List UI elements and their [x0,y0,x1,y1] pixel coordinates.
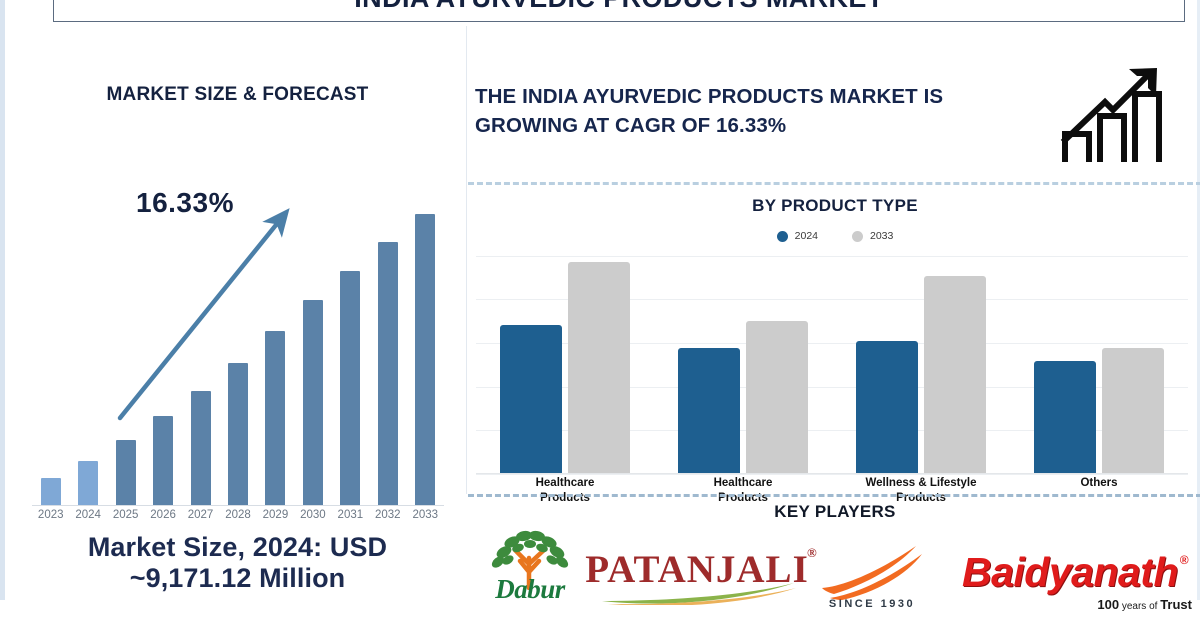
baidyanath-wordmark-text: Baidyanath [962,549,1178,595]
product-type-bar-2033[interactable] [1102,348,1164,473]
market-size-x-tick-label: 2026 [144,509,181,521]
product-type-bar-2033[interactable] [924,276,986,473]
market-size-bar-slot [69,461,106,505]
market-size-bar-slot [369,242,406,505]
chart-baseline [32,505,444,506]
product-type-bar-group [1010,348,1188,473]
key-players-logos: Dabur PATANJALI ® SINCE 1930 [468,526,1200,624]
market-size-forecast-panel: MARKET SIZE & FORECAST 16.33% 2023202420… [10,24,465,600]
market-size-bar-slot [332,271,369,505]
baidyanath-registered-mark: ® [1180,554,1188,566]
x-tick-label-line: Wellness & Lifestyle [832,476,1010,491]
by-product-type-heading: BY PRODUCT TYPE [468,196,1200,216]
product-type-bar-group [654,321,832,473]
market-size-bar[interactable] [78,461,98,505]
market-size-2024-note: Market Size, 2024: USD ~9,171.12 Million [10,532,465,593]
product-type-panel: THE INDIA AYURVEDIC PRODUCTS MARKET IS G… [468,24,1200,600]
market-size-bar[interactable] [228,363,248,505]
market-size-bar[interactable] [116,440,136,505]
product-type-bar-2024[interactable] [678,348,740,473]
divider-dashed-top [468,182,1200,185]
market-size-x-tick-label: 2027 [182,509,219,521]
market-size-note-line-1: Market Size, 2024: USD [10,532,465,563]
dabur-logo[interactable]: Dabur [468,526,592,624]
market-size-bar[interactable] [41,478,61,505]
legend-label-2024: 2024 [795,230,818,242]
key-players-heading: KEY PLAYERS [468,502,1200,522]
orange-flame-swoosh-icon [816,544,928,600]
product-type-bar-2033[interactable] [568,262,630,473]
divider-dashed-bottom [468,494,1200,497]
dabur-wordmark: Dabur [495,574,565,605]
market-size-x-tick-label: 2023 [32,509,69,521]
by-product-type-bar-chart [476,250,1188,474]
market-size-bar[interactable] [265,331,285,505]
baidyanath-wordmark: Baidyanath ® [962,552,1178,593]
market-size-x-tick-label: 2028 [219,509,256,521]
panel-divider [466,26,467,494]
market-size-forecast-heading: MARKET SIZE & FORECAST [10,84,465,106]
market-size-note-line-2: ~9,171.12 Million [10,563,465,594]
market-size-x-tick-label: 2025 [107,509,144,521]
product-type-bar-group [476,262,654,473]
product-type-bar-2024[interactable] [1034,361,1096,473]
page-title-bar: INDIA AYURVEDIC PRODUCTS MARKET [53,0,1185,22]
cagr-statement: THE INDIA AYURVEDIC PRODUCTS MARKET IS G… [475,82,985,140]
market-size-x-tick-label: 2029 [257,509,294,521]
chart-gridline [476,474,1188,475]
market-size-bar-slot [257,331,294,505]
market-size-bar-slot [144,416,181,505]
market-size-bar-slot [32,478,69,505]
legend-label-2033: 2033 [870,230,893,242]
legend-color-swatch-2024 [777,231,788,242]
market-size-bar-slot [107,440,144,505]
market-size-x-tick-label: 2033 [407,509,444,521]
market-size-bar[interactable] [340,271,360,505]
product-type-bar-2033[interactable] [746,321,808,473]
market-size-bar-chart [32,194,444,506]
market-size-bar[interactable] [303,300,323,505]
page-title: INDIA AYURVEDIC PRODUCTS MARKET [354,0,883,14]
market-size-x-tick-label: 2031 [332,509,369,521]
x-tick-label-line: Healthcare [654,476,832,491]
legend-item-2024[interactable]: 2024 [777,230,818,242]
product-type-bar-2024[interactable] [500,325,562,473]
chart-legend: 2024 2033 [468,230,1200,242]
market-size-x-tick-label: 2030 [294,509,331,521]
market-size-bar[interactable] [191,391,211,505]
chart-gridline [476,256,1188,257]
x-tick-label-line: Healthcare [476,476,654,491]
market-size-bar-slot [219,363,256,505]
market-size-x-tick-label: 2024 [69,509,106,521]
baidyanath-tagline: 100 years of Trust [1097,597,1192,612]
patanjali-logo[interactable]: PATANJALI ® [592,526,802,624]
market-size-bar-slot [407,214,444,505]
market-size-bar[interactable] [153,416,173,505]
baidyanath-tagline-number: 100 [1097,597,1119,612]
x-tick-label-line: Others [1010,476,1188,491]
baidyanath-tagline-mid: years of [1119,601,1160,612]
growth-bar-chart-icon [1053,54,1177,176]
since-1930-logo[interactable]: SINCE 1930 [802,526,942,624]
market-size-x-axis: 2023202420252026202720282029203020312032… [32,509,444,529]
product-type-bar-2024[interactable] [856,341,918,473]
patanjali-wordmark: PATANJALI ® [585,550,809,589]
market-size-bar[interactable] [415,214,435,505]
baidyanath-logo[interactable]: Baidyanath ® 100 years of Trust [942,526,1198,624]
patanjali-wordmark-text: PATANJALI [585,548,809,591]
market-size-x-tick-label: 2032 [369,509,406,521]
market-size-bar-slot [182,391,219,505]
legend-item-2033[interactable]: 2033 [852,230,893,242]
baidyanath-tagline-end: Trust [1160,597,1192,612]
infographic-page: INDIA AYURVEDIC PRODUCTS MARKET MARKET S… [0,0,1200,600]
product-type-bar-group [832,276,1010,473]
market-size-bar[interactable] [378,242,398,505]
product-type-x-tick-label: Others [1010,476,1188,491]
legend-color-swatch-2033 [852,231,863,242]
market-size-bar-slot [294,300,331,505]
